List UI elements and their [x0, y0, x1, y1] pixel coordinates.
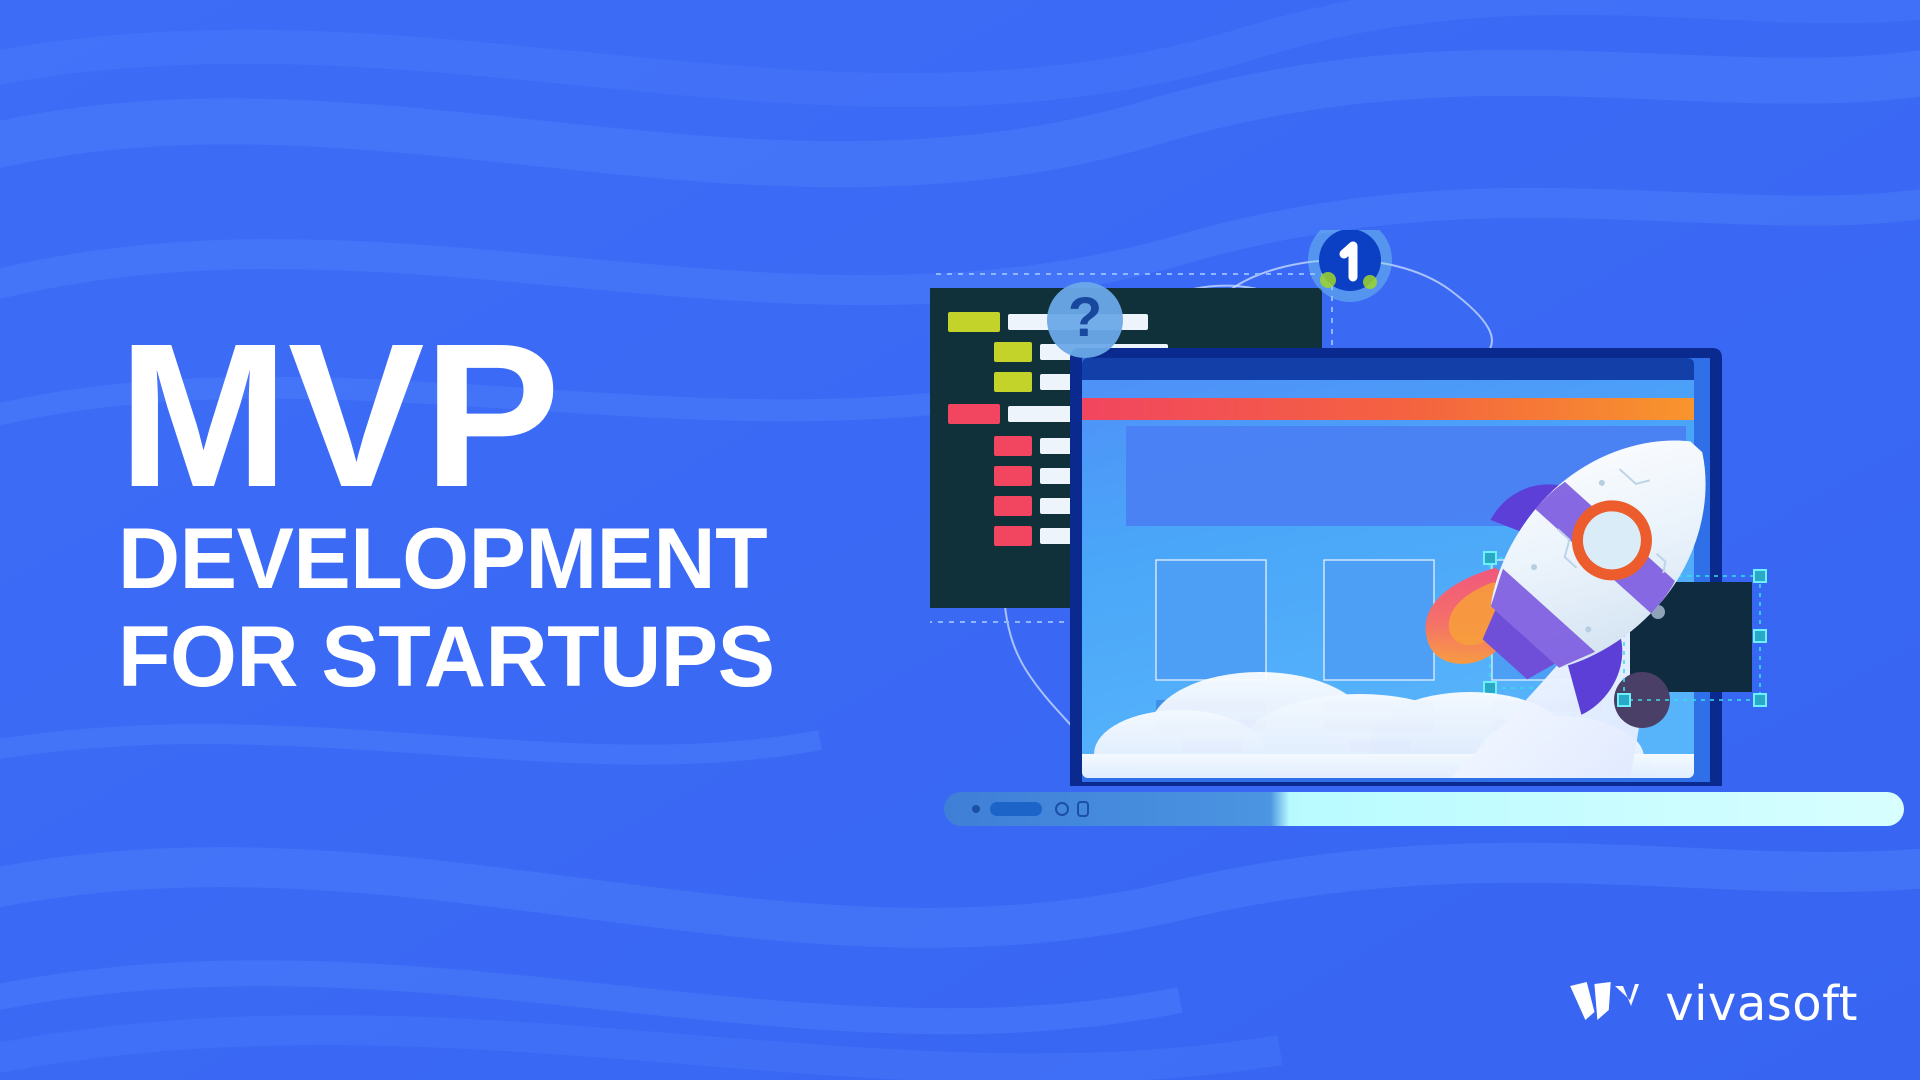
headline-line-mvp: MVP — [118, 330, 998, 502]
banner: MVP DEVELOPMENT FOR STARTUPS — [0, 0, 1920, 1080]
brand-logo[interactable]: vivasoft — [1569, 980, 1858, 1028]
headline-line-development: DEVELOPMENT — [118, 516, 998, 604]
brand-name: vivasoft — [1665, 980, 1858, 1028]
question-bubble: ? — [1047, 282, 1123, 358]
hero-illustration: ? — [930, 230, 1920, 930]
vivasoft-w-mark — [1569, 980, 1643, 1028]
headline-line-for-startups: FOR STARTUPS — [118, 614, 998, 702]
laptop-base — [944, 792, 1904, 826]
mockup-hero-bar — [1082, 398, 1694, 420]
question-mark-icon: ? — [1068, 285, 1102, 348]
headline-block: MVP DEVELOPMENT FOR STARTUPS — [118, 330, 998, 702]
